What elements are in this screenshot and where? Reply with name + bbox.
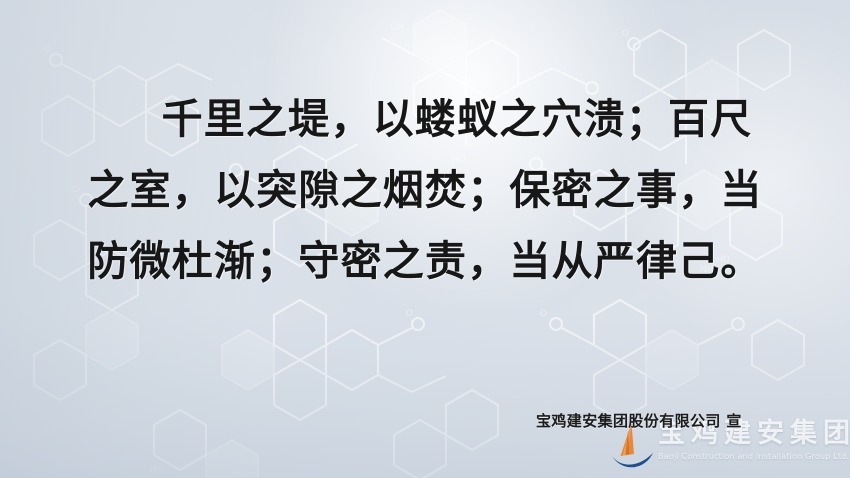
quote-line-2: 之室，以突隙之烟焚；保密之事，当 — [0, 155, 850, 226]
company-credit-line: 宝鸡建安集团股份有限公司 宣 — [536, 410, 742, 431]
quote-text-block: 千里之堤，以蝼蚁之穴溃；百尺 之室，以突隙之烟焚；保密之事，当 防微杜渐；守密之… — [0, 84, 850, 297]
quote-line-1: 千里之堤，以蝼蚁之穴溃；百尺 — [0, 84, 850, 155]
presentation-slide: O O OH — [0, 0, 850, 478]
quote-line-3: 防微杜渐；守密之责，当从严律己。 — [0, 226, 850, 297]
logo-english-name: Baoji Construction and Installation Grou… — [658, 451, 850, 461]
